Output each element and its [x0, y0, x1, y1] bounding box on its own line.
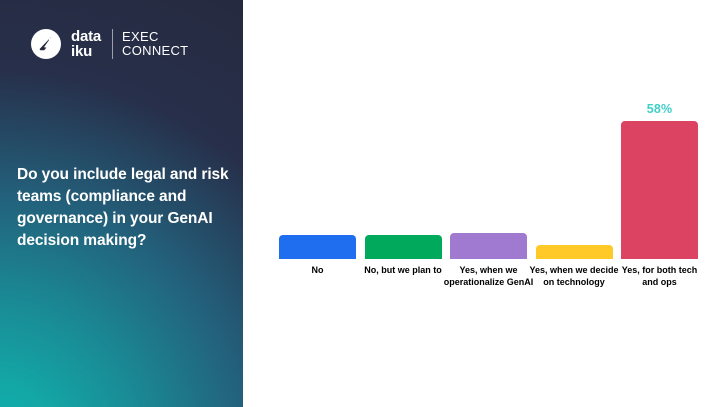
- logo-lockup: data iku EXEC CONNECT: [31, 24, 188, 64]
- bar-column: No, but we plan to: [365, 112, 442, 259]
- chart-area: NoNo, but we plan toYes, when we operati…: [243, 0, 726, 407]
- wordmark-line-1: data: [71, 29, 101, 44]
- bar-rect[interactable]: [365, 235, 442, 259]
- bar-column: 58%Yes, for both tech and ops: [621, 112, 698, 259]
- bar-category-label: No, but we plan to: [357, 265, 450, 277]
- bar-category-label: Yes, when we operationalize GenAI: [442, 265, 535, 288]
- bar-rect[interactable]: [279, 235, 356, 259]
- event-line-2: CONNECT: [122, 44, 188, 58]
- bar-column: No: [279, 112, 356, 259]
- dataiku-bird-logo-icon: [31, 29, 61, 59]
- bar-column: Yes, when we operationalize GenAI: [450, 112, 527, 259]
- bar-category-label: Yes, for both tech and ops: [613, 265, 706, 288]
- event-line-1: EXEC: [122, 30, 188, 44]
- bar-rect[interactable]: [621, 121, 698, 259]
- bar-category-label: No: [271, 265, 364, 277]
- bar-category-label: Yes, when we decide on technology: [528, 265, 621, 288]
- event-name: EXEC CONNECT: [122, 30, 188, 58]
- bar-rect[interactable]: [450, 233, 527, 259]
- branded-side-panel: data iku EXEC CONNECT Do you include leg…: [0, 0, 243, 407]
- bar-rect[interactable]: [536, 245, 613, 259]
- logo-divider: [112, 29, 113, 59]
- bar-column: Yes, when we decide on technology: [536, 112, 613, 259]
- bar-chart: NoNo, but we plan toYes, when we operati…: [279, 112, 697, 259]
- slide-root: data iku EXEC CONNECT Do you include leg…: [0, 0, 726, 407]
- bar-value-label: 58%: [621, 102, 698, 116]
- page-title: Do you include legal and risk teams (com…: [17, 164, 233, 252]
- wordmark-line-2: iku: [71, 44, 101, 59]
- dataiku-wordmark: data iku: [71, 29, 101, 59]
